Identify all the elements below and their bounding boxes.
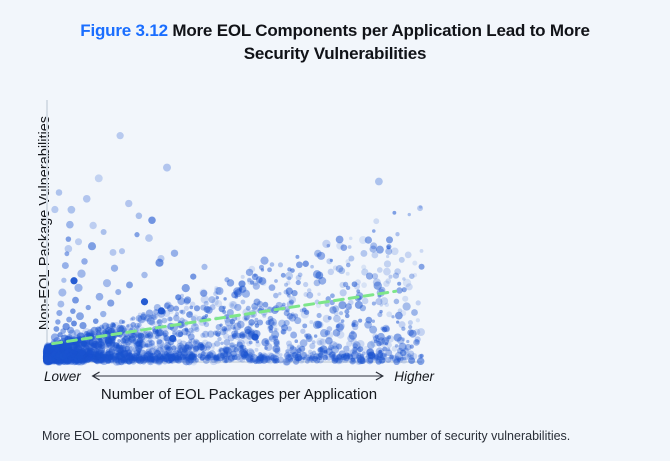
scatter-svg: [47, 100, 422, 362]
figure-number-label: Figure 3.12: [80, 21, 168, 40]
chart-plot-wrapper: Non-EOL Package Vulnerabilities Lower Hi…: [0, 90, 470, 390]
double-arrow-icon: [88, 369, 387, 383]
x-axis-label: Number of EOL Packages per Application: [44, 386, 434, 403]
figure-title: Figure 3.12 More EOL Components per Appl…: [50, 19, 620, 65]
figure-caption: More EOL components per application corr…: [42, 428, 642, 444]
x-axis-higher-label: Higher: [394, 369, 434, 384]
scatter-plot-area: [47, 100, 422, 362]
x-axis-direction-annotation: Lower Higher: [44, 366, 434, 386]
figure-container: Figure 3.12 More EOL Components per Appl…: [0, 0, 670, 461]
scatter-points-group: [43, 132, 425, 366]
x-axis-lower-label: Lower: [44, 369, 81, 384]
figure-title-text: More EOL Components per Application Lead…: [172, 21, 589, 63]
